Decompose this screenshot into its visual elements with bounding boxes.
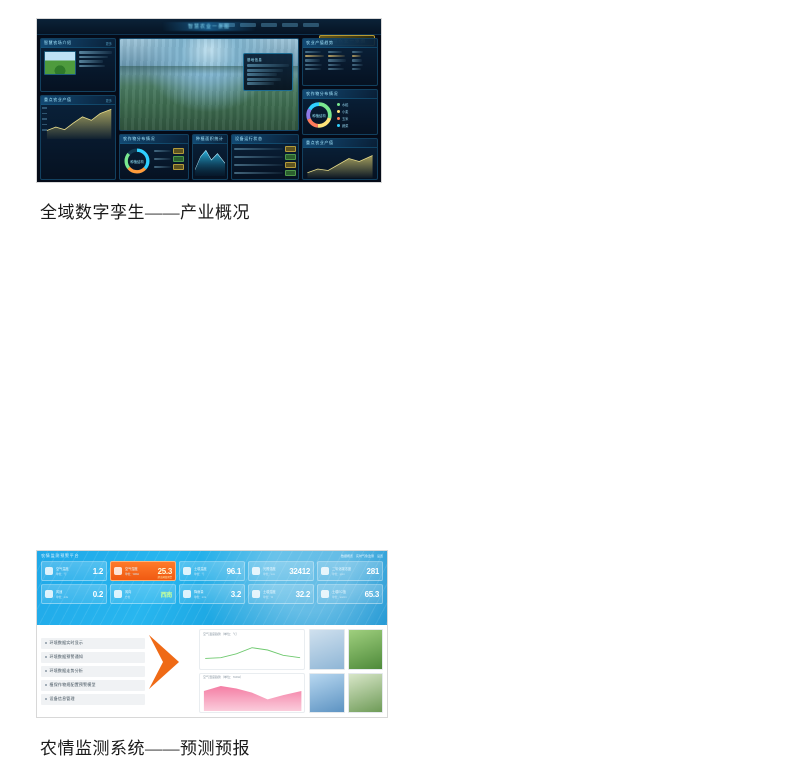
map-info-popup[interactable]: 基地信息 <box>243 53 293 91</box>
sun-icon <box>252 567 260 575</box>
card-title: 农作物分布情况 <box>306 91 338 97</box>
card-header: 农业产值趋势 <box>303 39 377 48</box>
header-action[interactable]: 实时气象监测 <box>356 554 374 558</box>
p3-lower-section: 环境数据实时显示 环境数据预警通知 环境数据走势分析 植保作物规配置预警模型 设… <box>37 625 387 717</box>
popup-row <box>247 64 289 67</box>
figure-caption-1: 全域数字孪生——产业概况 <box>10 198 400 223</box>
card-header: 农作物分布情况 <box>120 135 188 144</box>
p1-nav[interactable] <box>219 23 319 27</box>
popup-row <box>247 78 281 81</box>
device-row <box>234 146 296 152</box>
donut-center-label: 种植结构 <box>122 146 152 176</box>
popup-title: 基地信息 <box>247 57 289 62</box>
chart-air-temp[interactable]: 空气温度趋势（单位：℃） <box>199 629 305 670</box>
feature-list: 环境数据实时显示 环境数据预警通知 环境数据走势分析 植保作物规配置预警模型 设… <box>41 629 145 713</box>
chart-industry-trend <box>41 105 115 139</box>
thermometer-icon <box>45 567 53 575</box>
sensor-tile-grid: 空气温度单位：℃1.2 空气湿度单位：%RH25.3超出阈值预警 土壤温度单位：… <box>41 561 383 604</box>
card-title: 种植面积统计 <box>196 136 224 142</box>
card-title: 农业产值趋势 <box>306 40 334 46</box>
p1-card-ratio[interactable]: 农作物分布情况 种植结构 <box>119 134 189 180</box>
feature-item[interactable]: 设备信息管理 <box>41 694 145 705</box>
device-rows <box>232 144 298 178</box>
farm-info-lines <box>79 51 112 75</box>
card-header: 重点农业产值 更多 <box>41 96 115 105</box>
sensor-tile[interactable]: 土壤湿度单位：%32.2 <box>248 584 314 604</box>
donut-chart-crop: 种植结构 <box>122 146 152 176</box>
p1-bottom-row: 农作物分布情况 种植结构 <box>119 134 299 180</box>
sensor-tile[interactable]: 土壤温度单位：℃96.1 <box>179 561 245 581</box>
p1-card-device[interactable]: 设备运行状态 <box>231 134 299 180</box>
ec-icon <box>321 590 329 598</box>
legend-item: 蔬菜 <box>337 123 376 128</box>
p1-left-column: 智慧农场介绍 更多 重点农业产值 更多 <box>40 38 116 180</box>
donut-chart-structure: 种植结构 <box>304 100 334 130</box>
popup-row <box>247 73 277 76</box>
legend-item: 玉米 <box>337 116 376 121</box>
card-header: 重点农业产值 <box>303 139 377 148</box>
p1-card-area-trend[interactable]: 种植面积统计 <box>192 134 228 180</box>
humidity-icon <box>114 567 122 575</box>
device-row <box>234 162 296 168</box>
card-header: 智慧农场介绍 更多 <box>41 39 115 48</box>
p1-card-donut2[interactable]: 农作物分布情况 <box>302 89 378 135</box>
alert-tag: 超出阈值预警 <box>158 575 172 579</box>
compass-icon <box>114 590 122 598</box>
donut-center-label: 种植结构 <box>304 100 334 130</box>
card-title: 设备运行状态 <box>235 136 263 142</box>
card-header: 种植面积统计 <box>193 135 227 144</box>
chart-air-humidity[interactable]: 空气湿度趋势（单位：%RH） <box>199 673 305 714</box>
popup-row <box>247 69 283 72</box>
p1-card-output[interactable]: 重点农业产值 更多 <box>40 95 116 180</box>
thumbnail-field[interactable] <box>348 629 384 670</box>
card-more[interactable]: 更多 <box>106 41 112 46</box>
card-body: 种植结构 <box>120 144 188 178</box>
media-thumbnails <box>309 629 383 713</box>
donut-legend: 水稻 小麦 玉米 蔬菜 <box>334 100 376 130</box>
digital-twin-3d-view[interactable]: 基地信息 <box>119 38 299 131</box>
sensor-tile[interactable]: 风速单位：m/s0.2 <box>41 584 107 604</box>
figure-cell-4: 今日人流量监测图 员工管理 人员分布 今日人流量监测图 田间作业人员 <box>400 262 800 524</box>
feature-item[interactable]: 环境数据实时显示 <box>41 638 145 649</box>
sensor-tile[interactable]: 空气温度单位：℃1.2 <box>41 561 107 581</box>
sensor-tile[interactable]: 二氧化碳浓度单位：ppm281 <box>317 561 383 581</box>
p1-right-column: 农业产值趋势 <box>302 38 378 180</box>
card-more[interactable]: 更多 <box>106 98 112 103</box>
figure-caption-3: 农情监测系统——预测预报 <box>10 734 400 759</box>
chart-title: 空气温度趋势（单位：℃） <box>200 630 304 637</box>
header-actions[interactable]: 数据概览 实时气象监测 设置 <box>341 554 383 558</box>
chart-trend-2 <box>303 148 377 178</box>
p1-card-table[interactable]: 农业产值趋势 <box>302 38 378 86</box>
screenshot-digital-twin[interactable]: 智慧农业一张图 智慧农业一张图 智慧农场介绍 更多 <box>36 18 382 183</box>
feature-item[interactable]: 环境数据走势分析 <box>41 666 145 677</box>
ratio-rows <box>152 146 186 176</box>
card-body <box>41 48 115 78</box>
chevron-arrow-graphic <box>149 629 195 713</box>
legend-item: 小麦 <box>337 109 376 114</box>
card-title: 重点农业产值 <box>44 97 72 103</box>
figure-cell-1: 智慧农业一张图 智慧农业一张图 智慧农场介绍 更多 <box>0 0 400 262</box>
chart-title: 空气湿度趋势（单位：%RH） <box>200 674 304 681</box>
chart-area-trend <box>193 144 227 176</box>
ratio-row <box>154 156 184 162</box>
sensor-tile[interactable]: 降雨量单位：mm3.2 <box>179 584 245 604</box>
soil-temp-icon <box>183 567 191 575</box>
card-body: 种植结构 水稻 小麦 玉米 蔬菜 <box>303 99 377 131</box>
header-action[interactable]: 设置 <box>377 554 383 558</box>
sensor-tile[interactable]: 光照强度单位：Lux32412 <box>248 561 314 581</box>
screenshot-agri-monitoring[interactable]: 农情监测预警平台 数据概览 实时气象监测 设置 空气温度单位：℃1.2 空气湿度… <box>36 550 388 718</box>
figure-cell-3: 农情监测预警平台 数据概览 实时气象监测 设置 空气温度单位：℃1.2 空气湿度… <box>0 262 400 524</box>
device-row <box>234 170 296 176</box>
p1-body: 智慧农场介绍 更多 重点农业产值 更多 <box>37 35 381 183</box>
popup-row <box>247 82 274 85</box>
card-title: 重点农业产值 <box>306 140 334 146</box>
card-body <box>303 48 377 73</box>
thumb-row <box>309 629 383 670</box>
thumb-row <box>309 673 383 714</box>
thumbnail-laptop[interactable] <box>309 629 345 670</box>
kpi-hero-banner: 农情监测预警平台 数据概览 实时气象监测 设置 空气温度单位：℃1.2 空气湿度… <box>37 551 387 625</box>
card-title: 农作物分布情况 <box>123 136 155 142</box>
header-action[interactable]: 数据概览 <box>341 554 353 558</box>
data-table <box>305 50 375 71</box>
table-row <box>305 67 375 71</box>
sensor-tile[interactable]: 风向方位西南 <box>110 584 176 604</box>
figure-grid: 智慧农业一张图 智慧农业一张图 智慧农场介绍 更多 <box>0 0 800 524</box>
trend-charts: 空气温度趋势（单位：℃） 空气湿度趋势（单位：%RH） <box>199 629 305 713</box>
p1-topbar: 智慧农业一张图 <box>37 19 381 35</box>
p1-card-intro[interactable]: 智慧农场介绍 更多 <box>40 38 116 92</box>
soil-moisture-icon <box>252 590 260 598</box>
farm-photo-thumb <box>44 51 76 75</box>
thumbnail-crop[interactable] <box>348 673 384 714</box>
p1-card-trend2[interactable]: 重点农业产值 <box>302 138 378 180</box>
sensor-tile-alert[interactable]: 空气湿度单位：%RH25.3超出阈值预警 <box>110 561 176 581</box>
sensor-tile[interactable]: 土壤EC值单位：us/cm65.3 <box>317 584 383 604</box>
rain-icon <box>183 590 191 598</box>
card-title: 智慧农场介绍 <box>44 40 72 46</box>
panel-title: 农情监测预警平台 <box>41 553 79 559</box>
feature-item[interactable]: 环境数据预警通知 <box>41 652 145 663</box>
p1-center-column: 基地信息 农作物分布情况 <box>119 38 299 180</box>
wind-icon <box>45 590 53 598</box>
device-row <box>234 154 296 160</box>
ratio-row <box>154 148 184 154</box>
y-axis-ticks <box>42 107 47 131</box>
thumbnail-screen[interactable] <box>309 673 345 714</box>
figure-cell-2: 智慧农业 <box>400 0 800 262</box>
ratio-row <box>154 164 184 170</box>
card-header: 农作物分布情况 <box>303 90 377 99</box>
feature-item[interactable]: 植保作物规配置预警模型 <box>41 680 145 691</box>
co2-icon <box>321 567 329 575</box>
card-header: 设备运行状态 <box>232 135 298 144</box>
legend-item: 水稻 <box>337 102 376 107</box>
